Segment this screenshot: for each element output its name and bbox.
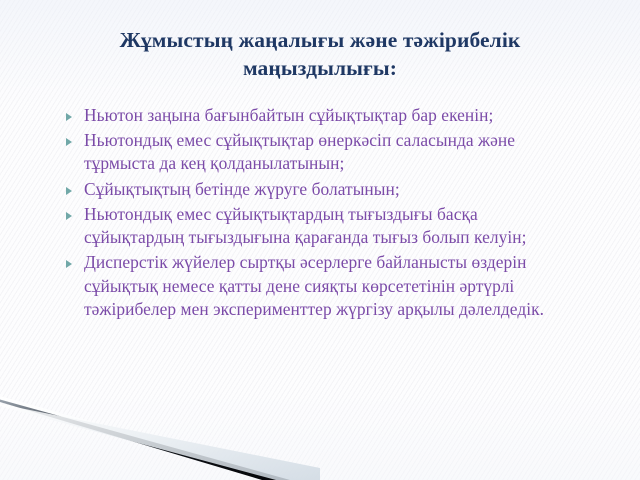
list-item-text: Сұйықтықтың бетінде жүруге болатынын; <box>84 178 578 201</box>
list-item: Ньютон заңына бағынбайтын сұйықтықтар ба… <box>66 104 578 127</box>
slide-canvas: Жұмыстың жаңалығы және тәжірибелік маңыз… <box>0 0 640 480</box>
list-item-text: Ньютондық емес сұйықтықтар өнеркәсіп сал… <box>84 129 578 175</box>
triangle-right-icon <box>66 203 84 220</box>
bullet-list: Ньютон заңына бағынбайтын сұйықтықтар ба… <box>66 104 578 323</box>
corner-ribbon-decoration <box>0 390 320 480</box>
list-item-text: Дисперстік жүйелер сыртқы әсерлерге байл… <box>84 251 578 321</box>
triangle-right-icon <box>66 129 84 146</box>
list-item-text: Ньютон заңына бағынбайтын сұйықтықтар ба… <box>84 104 578 127</box>
list-item: Сұйықтықтың бетінде жүруге болатынын; <box>66 178 578 201</box>
page-title: Жұмыстың жаңалығы және тәжірибелік маңыз… <box>62 26 578 83</box>
triangle-right-icon <box>66 178 84 195</box>
list-item: Ньютондық емес сұйықтықтардың тығыздығы … <box>66 203 578 249</box>
triangle-right-icon <box>66 104 84 121</box>
list-item: Ньютондық емес сұйықтықтар өнеркәсіп сал… <box>66 129 578 175</box>
triangle-right-icon <box>66 251 84 268</box>
list-item-text: Ньютондық емес сұйықтықтардың тығыздығы … <box>84 203 578 249</box>
list-item: Дисперстік жүйелер сыртқы әсерлерге байл… <box>66 251 578 321</box>
